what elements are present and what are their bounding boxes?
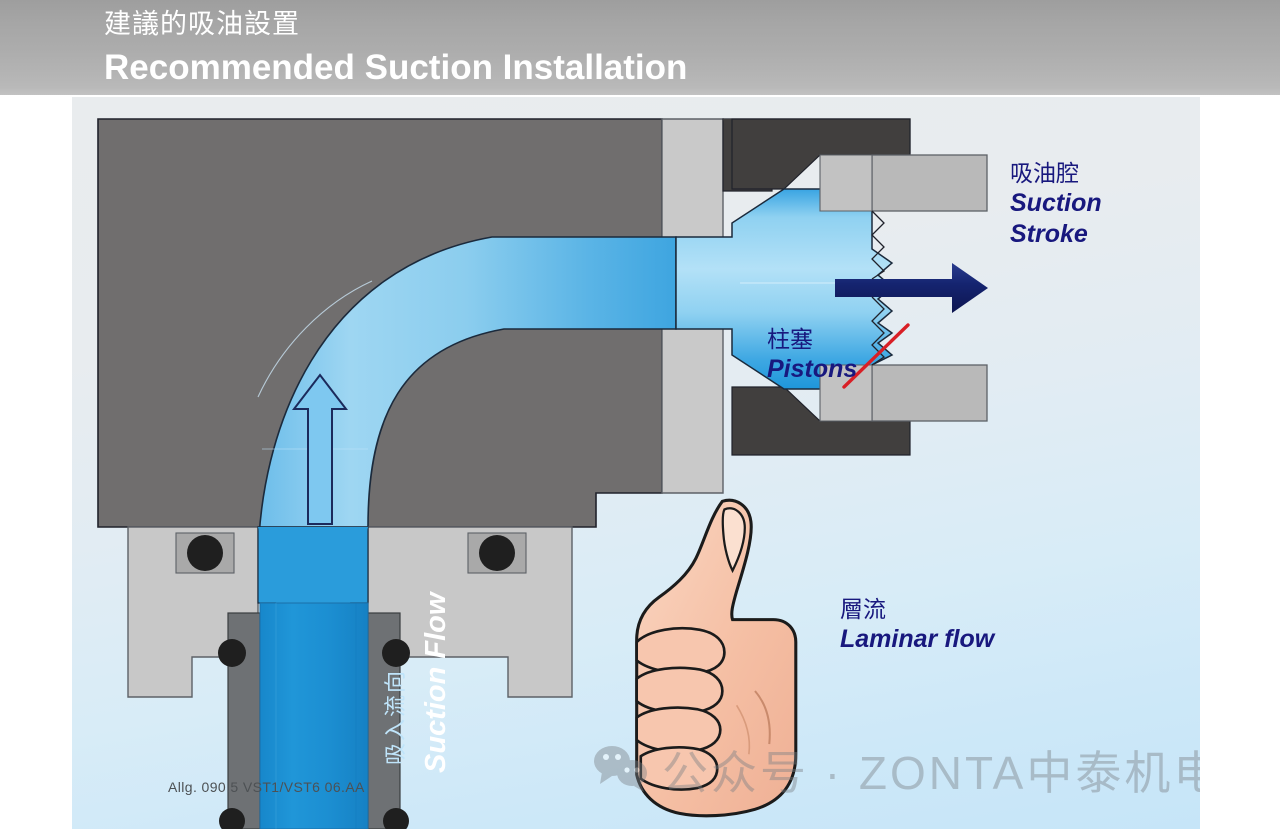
- page-title-chinese: 建議的吸油設置: [104, 8, 300, 40]
- callout-pistons-english: Pistons: [767, 354, 857, 385]
- diagram-canvas: 吸入流向 Suction Flow 吸油腔 Suction Stroke 柱塞 …: [72, 97, 1200, 829]
- callout-suction-stroke-english-line2: Stroke: [1010, 219, 1102, 250]
- callout-suction-stroke-english-line1: Suction: [1010, 188, 1102, 219]
- callout-laminar-flow-english: Laminar flow: [840, 624, 994, 655]
- callout-pistons-chinese: 柱塞: [767, 325, 857, 354]
- thumbs-up-hand: [637, 500, 796, 816]
- callout-pistons: 柱塞 Pistons: [767, 325, 857, 385]
- header-bar: 建議的吸油設置 Recommended Suction Installation: [0, 0, 1280, 95]
- drawing-code-caption: Allg. 090.5 VST1/VST6 06.AA: [168, 779, 365, 795]
- callout-suction-stroke: 吸油腔 Suction Stroke: [1010, 159, 1102, 250]
- pipe-transition: [258, 527, 368, 603]
- page-title-english: Recommended Suction Installation: [104, 47, 687, 89]
- callout-laminar-flow-chinese: 層流: [840, 595, 994, 624]
- suction-pipe-group: [218, 603, 410, 829]
- callout-suction-stroke-chinese: 吸油腔: [1010, 159, 1102, 188]
- callout-laminar-flow: 層流 Laminar flow: [840, 595, 994, 655]
